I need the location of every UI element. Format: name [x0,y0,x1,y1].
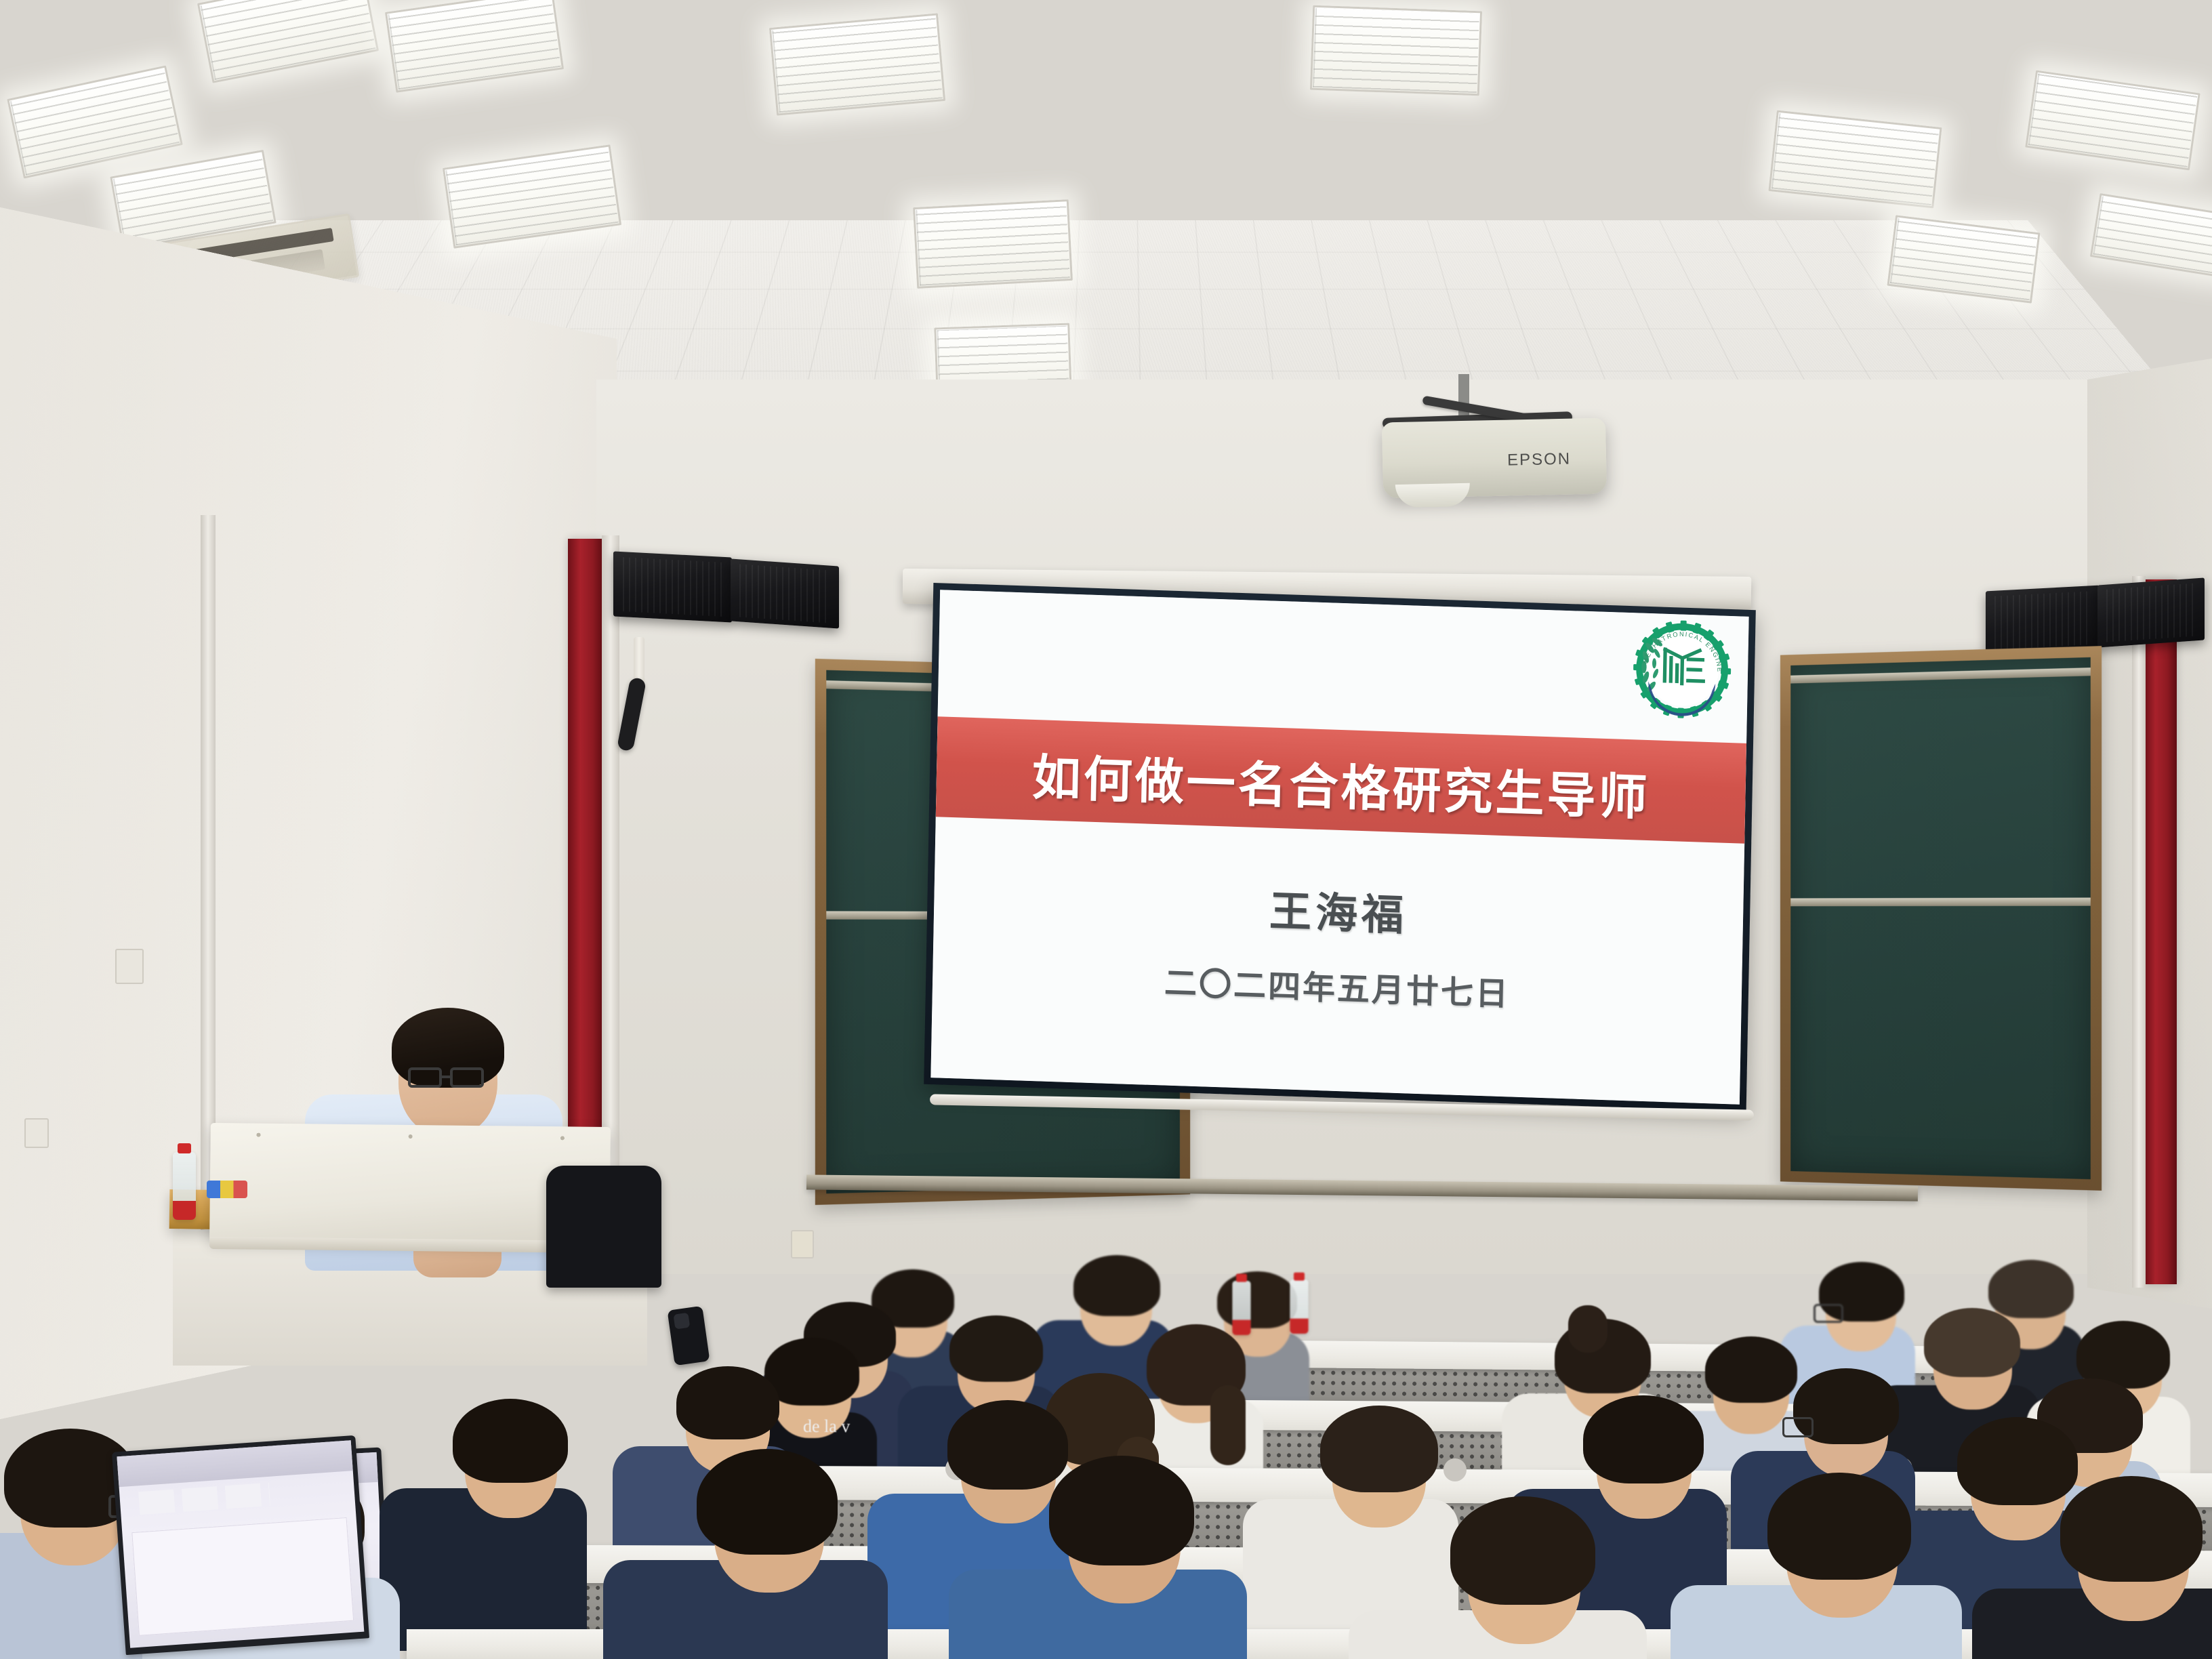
wall-sign-plate [791,1230,814,1258]
wall-outlet[interactable] [24,1118,49,1148]
ponytail [1568,1305,1607,1353]
laptop[interactable] [112,1435,369,1655]
ceiling-light [2090,193,2212,278]
laptop-document-area [131,1517,354,1636]
blackboard-right [1780,646,2102,1191]
ceiling-light [769,13,945,115]
blackboard-rail [1790,668,2091,683]
slide-canvas: MECHATRONICAL ENGINEERING [930,590,1748,1104]
ceiling-light [197,0,379,83]
ceiling-light [7,65,183,178]
mechatronical-engineering-emblem: MECHATRONICAL ENGINEERING [1631,617,1734,722]
microphone-boom [634,637,644,684]
red-pillar-right [2144,579,2177,1284]
projection-screen: MECHATRONICAL ENGINEERING [924,583,1756,1111]
desk-supplies [207,1181,247,1198]
slide-author-text: 王海福 [934,865,1744,954]
slide-date-text: 二〇二四年五月廿七日 [933,948,1742,1023]
podium-screw-row [211,1132,611,1141]
wall-outlet[interactable] [115,949,144,984]
ceiling-light [385,0,564,93]
blackboard-surface-right [1790,657,2091,1179]
ceiling-light [1310,5,1482,96]
water-bottle [1290,1279,1308,1334]
ceiling-light [2025,70,2200,171]
presenter-glasses-icon [450,1067,484,1088]
laptop-screen[interactable] [117,1440,364,1647]
presenter-glasses-icon [408,1067,442,1088]
ponytail [1210,1385,1246,1465]
ceiling-light [913,199,1073,289]
ceiling-projector: EPSON [1382,418,1607,499]
ceiling-light [1768,110,1942,209]
wall-speaker-left [613,551,732,622]
scene-description: A speaker stands at a white podium at th… [0,0,1,1]
screen-surface: MECHATRONICAL ENGINEERING [930,590,1748,1104]
presenter-glasses-bridge [442,1076,451,1078]
water-bottle [1232,1281,1250,1335]
audience-shirt-text: de la v [803,1416,850,1437]
phone[interactable] [668,1306,710,1366]
water-bottle [173,1152,196,1220]
column-trim-right [2132,576,2146,1288]
wall-speaker-right [2097,577,2205,647]
blackboard-rail [1790,897,2091,906]
lecture-hall-photo: EPSON [0,0,2212,1659]
desk-knob [1443,1458,1467,1481]
laptop-toolbar-buttons [138,1483,271,1515]
presenter-chair [546,1166,661,1288]
wall-speaker-right [1986,586,2100,656]
wall-speaker-left [731,558,839,628]
projector-brand-label: EPSON [1507,450,1572,470]
